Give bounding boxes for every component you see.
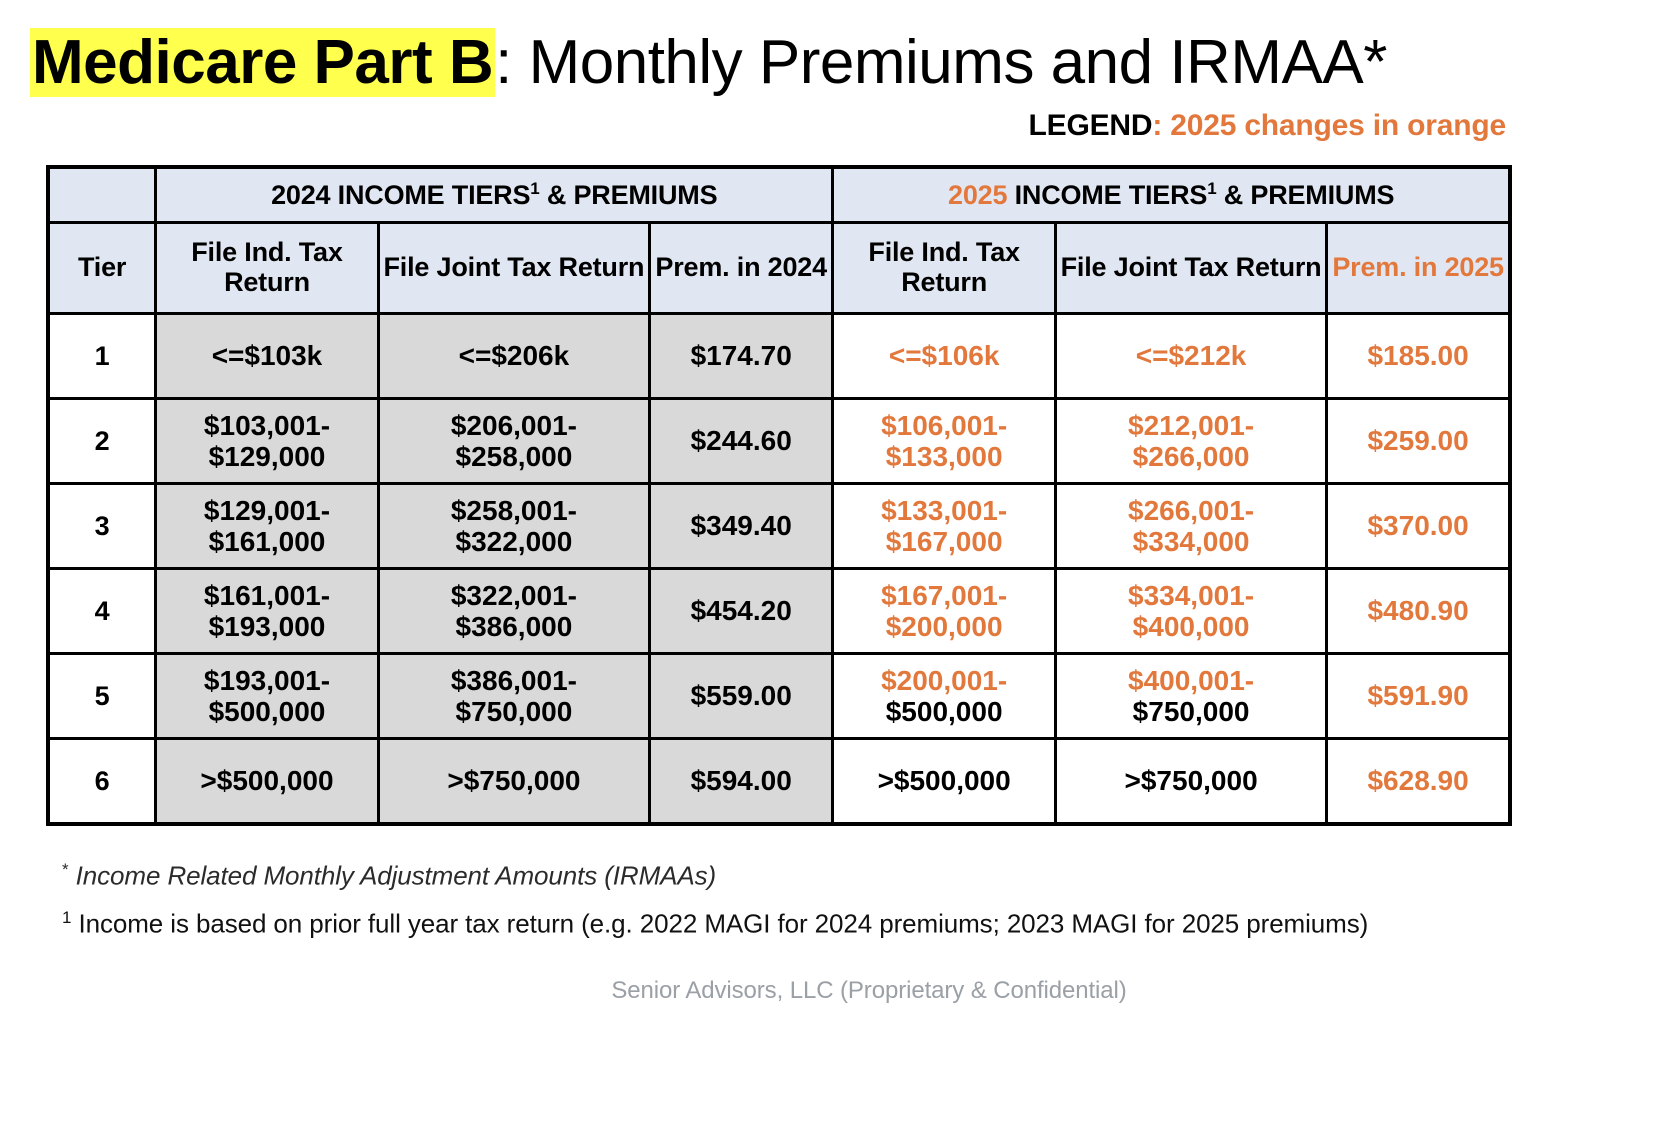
legend-label: LEGEND [1029,109,1153,142]
table-row-ind-2024: $103,001-$129,000 [156,399,379,484]
table-row-joint-2024: $322,001-$386,000 [378,569,649,654]
legend: LEGEND: 2025 changes in orange [0,95,1676,143]
footnote-star: * Income Related Monthly Adjustment Amou… [62,860,1676,892]
table-row-ind-2024-line2: $161,000 [157,526,377,557]
table-row-ind-2024-line1: $161,001- [157,580,377,611]
premiums-table-body: 1<=$103k<=$206k$174.70<=$106k<=$212k$185… [48,314,1510,825]
table-row-joint-2025: $266,001-$334,000 [1055,484,1326,569]
footnote-star-text: Income Related Monthly Adjustment Amount… [69,861,717,891]
table-row-joint-2024-line2: $258,000 [380,441,648,472]
table-row-ind-2024: $129,001-$161,000 [156,484,379,569]
table-row-ind-2024: $193,001-$500,000 [156,654,379,739]
table-row-prem-2024: $244.60 [650,399,833,484]
table-row-ind-2025-line1: $106,001- [834,410,1054,441]
table-row-ind-2024-line1: >$500,000 [157,765,377,796]
column-header-prem-2024: Prem. in 2024 [650,223,833,314]
table-row-joint-2024: $258,001-$322,000 [378,484,649,569]
table-row-joint-2025-line2: $334,000 [1057,526,1325,557]
table-row-joint-2025-line1: $266,001- [1057,495,1325,526]
table-row-joint-2024-line2: $322,000 [380,526,648,557]
column-header-ind-2025: File Ind. Tax Return [833,223,1056,314]
group-header-2025-tail: & PREMIUMS [1216,180,1394,210]
table-row: 5$193,001-$500,000$386,001-$750,000$559.… [48,654,1510,739]
table-row-ind-2024-line2: $193,000 [157,611,377,642]
footnotes: * Income Related Monthly Adjustment Amou… [62,860,1676,1005]
table-row-ind-2025: $167,001-$200,000 [833,569,1056,654]
table-row-ind-2025: $106,001-$133,000 [833,399,1056,484]
legend-value: : 2025 changes in orange [1152,109,1506,142]
table-row-ind-2025-line1: $133,001- [834,495,1054,526]
table-row-prem-2025: $185.00 [1327,314,1510,399]
footnote-one: 1 Income is based on prior full year tax… [62,908,1676,940]
table-row-ind-2025-line2: $133,000 [834,441,1054,472]
table-row-ind-2025-line2: $167,000 [834,526,1054,557]
table-row-ind-2024-line2: $129,000 [157,441,377,472]
table-row-ind-2024-line1: $103,001- [157,410,377,441]
table-row-joint-2025: <=$212k [1055,314,1326,399]
premiums-table: 2024 INCOME TIERS1 & PREMIUMS 2025 INCOM… [46,165,1512,826]
group-header-2024-tail: & PREMIUMS [540,180,718,210]
table-row: 2$103,001-$129,000$206,001-$258,000$244.… [48,399,1510,484]
table-row-ind-2025-line1: >$500,000 [834,765,1054,796]
table-row-joint-2024-line1: $206,001- [380,410,648,441]
group-header-2025: 2025 INCOME TIERS1 & PREMIUMS [833,167,1510,223]
table-row-joint-2025-line2: $266,000 [1057,441,1325,472]
table-row: 3$129,001-$161,000$258,001-$322,000$349.… [48,484,1510,569]
table-row-tier: 1 [48,314,156,399]
table-row-joint-2025: $400,001-$750,000 [1055,654,1326,739]
credit-line: Senior Advisors, LLC (Proprietary & Conf… [62,977,1676,1005]
table-row-tier: 3 [48,484,156,569]
group-header-2025-rest: INCOME TIERS [1007,180,1207,210]
table-row-joint-2024-line2: $750,000 [380,696,648,727]
page-title-rest: : Monthly Premiums and IRMAA* [495,28,1387,97]
table-row-prem-2025: $591.90 [1327,654,1510,739]
column-header-ind-2024: File Ind. Tax Return [156,223,379,314]
table-row-ind-2025-line2: $200,000 [834,611,1054,642]
table-row-prem-2025: $259.00 [1327,399,1510,484]
column-header-joint-2024: File Joint Tax Return [378,223,649,314]
table-row-joint-2025-line2: $750,000 [1057,696,1325,727]
group-header-2024-rest: INCOME TIERS [330,180,530,210]
table-row-tier: 2 [48,399,156,484]
table-row-joint-2024: $386,001-$750,000 [378,654,649,739]
column-header-prem-2025: Prem. in 2025 [1327,223,1510,314]
table-row-joint-2024-line1: $386,001- [380,665,648,696]
table-row-tier: 4 [48,569,156,654]
table-row-ind-2024: $161,001-$193,000 [156,569,379,654]
table-row-joint-2024-line1: >$750,000 [380,765,648,796]
table-row-joint-2025: $334,001-$400,000 [1055,569,1326,654]
table-row-ind-2025-line1: <=$106k [834,340,1054,371]
table-row: 1<=$103k<=$206k$174.70<=$106k<=$212k$185… [48,314,1510,399]
footnote-one-marker: 1 [62,908,71,927]
table-row-ind-2024: <=$103k [156,314,379,399]
table-row-tier: 6 [48,739,156,825]
premiums-table-container: 2024 INCOME TIERS1 & PREMIUMS 2025 INCOM… [46,165,1512,826]
table-row-joint-2025-line1: $400,001- [1057,665,1325,696]
table-row-prem-2024: $174.70 [650,314,833,399]
table-row-joint-2024-line1: <=$206k [380,340,648,371]
table-row-prem-2025: $370.00 [1327,484,1510,569]
table-row-ind-2024-line1: $193,001- [157,665,377,696]
table-row-joint-2025-line2: $400,000 [1057,611,1325,642]
table-row-joint-2025-line1: <=$212k [1057,340,1325,371]
table-row-prem-2024: $594.00 [650,739,833,825]
group-header-2024-sup: 1 [530,179,539,198]
table-row-ind-2024-line1: <=$103k [157,340,377,371]
table-row-ind-2025: $200,001-$500,000 [833,654,1056,739]
table-row-prem-2025: $628.90 [1327,739,1510,825]
table-row-ind-2024-line1: $129,001- [157,495,377,526]
table-row-prem-2024: $349.40 [650,484,833,569]
table-row-prem-2024: $559.00 [650,654,833,739]
table-row-ind-2024: >$500,000 [156,739,379,825]
group-header-2024-year: 2024 [271,180,330,210]
column-header-tier: Tier [48,223,156,314]
group-header-row: 2024 INCOME TIERS1 & PREMIUMS 2025 INCOM… [48,167,1510,223]
table-row-prem-2024: $454.20 [650,569,833,654]
table-row-joint-2025: >$750,000 [1055,739,1326,825]
table-row-prem-2025: $480.90 [1327,569,1510,654]
table-row-ind-2025: >$500,000 [833,739,1056,825]
page-title: Medicare Part B: Monthly Premiums and IR… [0,0,1676,95]
table-row-joint-2024-line1: $322,001- [380,580,648,611]
table-row-tier: 5 [48,654,156,739]
table-row-joint-2025: $212,001-$266,000 [1055,399,1326,484]
table-row-joint-2024-line2: $386,000 [380,611,648,642]
column-header-joint-2025: File Joint Tax Return [1055,223,1326,314]
group-header-2025-year: 2025 [948,180,1007,210]
table-row-ind-2025-line2: $500,000 [834,696,1054,727]
table-row-ind-2025: <=$106k [833,314,1056,399]
table-row-ind-2025: $133,001-$167,000 [833,484,1056,569]
table-row-ind-2025-line1: $167,001- [834,580,1054,611]
group-header-blank [48,167,156,223]
table-row-joint-2024-line1: $258,001- [380,495,648,526]
table-row-ind-2025-line1: $200,001- [834,665,1054,696]
table-row-joint-2025-line1: >$750,000 [1057,765,1325,796]
column-header-row: Tier File Ind. Tax Return File Joint Tax… [48,223,1510,314]
table-row-joint-2025-line1: $212,001- [1057,410,1325,441]
table-row-joint-2024: >$750,000 [378,739,649,825]
footnote-one-text: Income is based on prior full year tax r… [71,908,1368,938]
table-row: 4$161,001-$193,000$322,001-$386,000$454.… [48,569,1510,654]
table-row-joint-2024: <=$206k [378,314,649,399]
table-row: 6>$500,000>$750,000$594.00>$500,000>$750… [48,739,1510,825]
group-header-2024: 2024 INCOME TIERS1 & PREMIUMS [156,167,833,223]
table-row-ind-2024-line2: $500,000 [157,696,377,727]
table-row-joint-2025-line1: $334,001- [1057,580,1325,611]
table-row-joint-2024: $206,001-$258,000 [378,399,649,484]
page-title-highlight: Medicare Part B [30,28,495,97]
